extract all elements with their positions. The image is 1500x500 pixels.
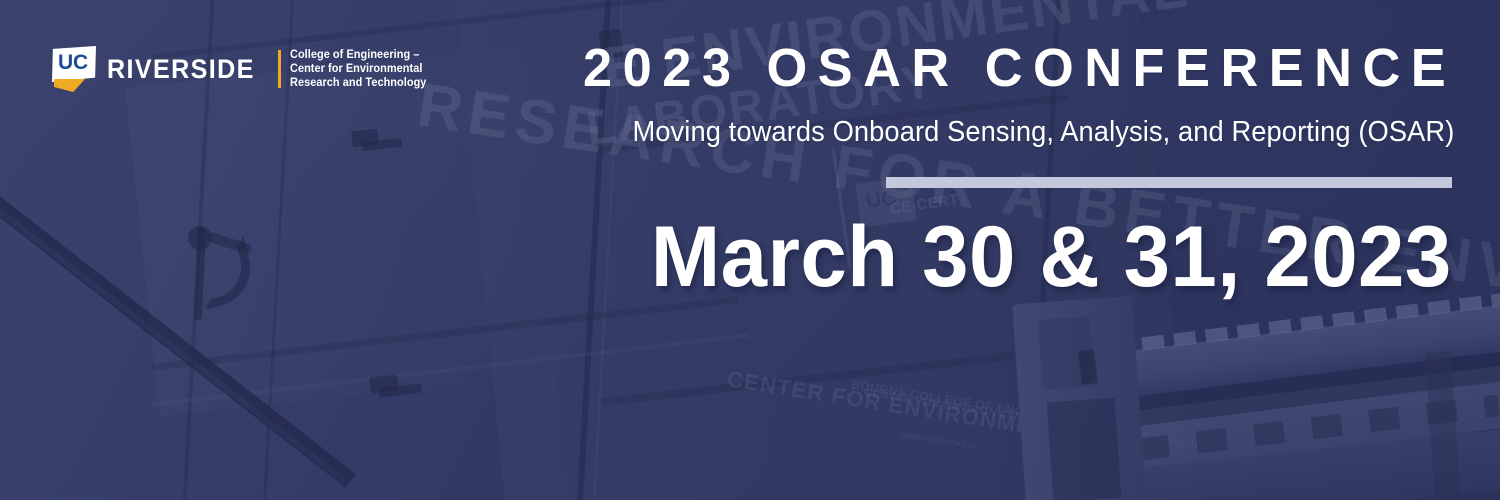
uc-gold-accent-shape bbox=[54, 79, 85, 92]
logo-department-line-2: Center for Environmental bbox=[290, 62, 426, 76]
conference-title: 2023 OSAR CONFERENCE bbox=[583, 40, 1456, 96]
logo-department-block: College of Engineering – Center for Envi… bbox=[290, 48, 434, 90]
uc-monogram-text: UC bbox=[58, 52, 88, 74]
banner-content: UC RIVERSIDE College of Engineering – Ce… bbox=[0, 0, 1500, 500]
ucr-cecert-logo[interactable]: UC RIVERSIDE College of Engineering – Ce… bbox=[52, 46, 434, 92]
conference-subtitle: Moving towards Onboard Sensing, Analysis… bbox=[632, 115, 1454, 149]
headline-divider-bar bbox=[886, 177, 1452, 188]
osar-conference-banner: UC CE-CERT E ENVIRONMENTAL LABORATORY RE… bbox=[0, 0, 1500, 500]
riverside-wordmark: RIVERSIDE bbox=[107, 56, 255, 83]
logo-department-line-1: College of Engineering – bbox=[290, 48, 426, 62]
logo-department-line-3: Research and Technology bbox=[290, 76, 426, 90]
logo-divider-rule bbox=[278, 50, 281, 88]
conference-date: March 30 & 31, 2023 bbox=[651, 209, 1452, 305]
uc-shield-icon: UC bbox=[52, 46, 98, 92]
